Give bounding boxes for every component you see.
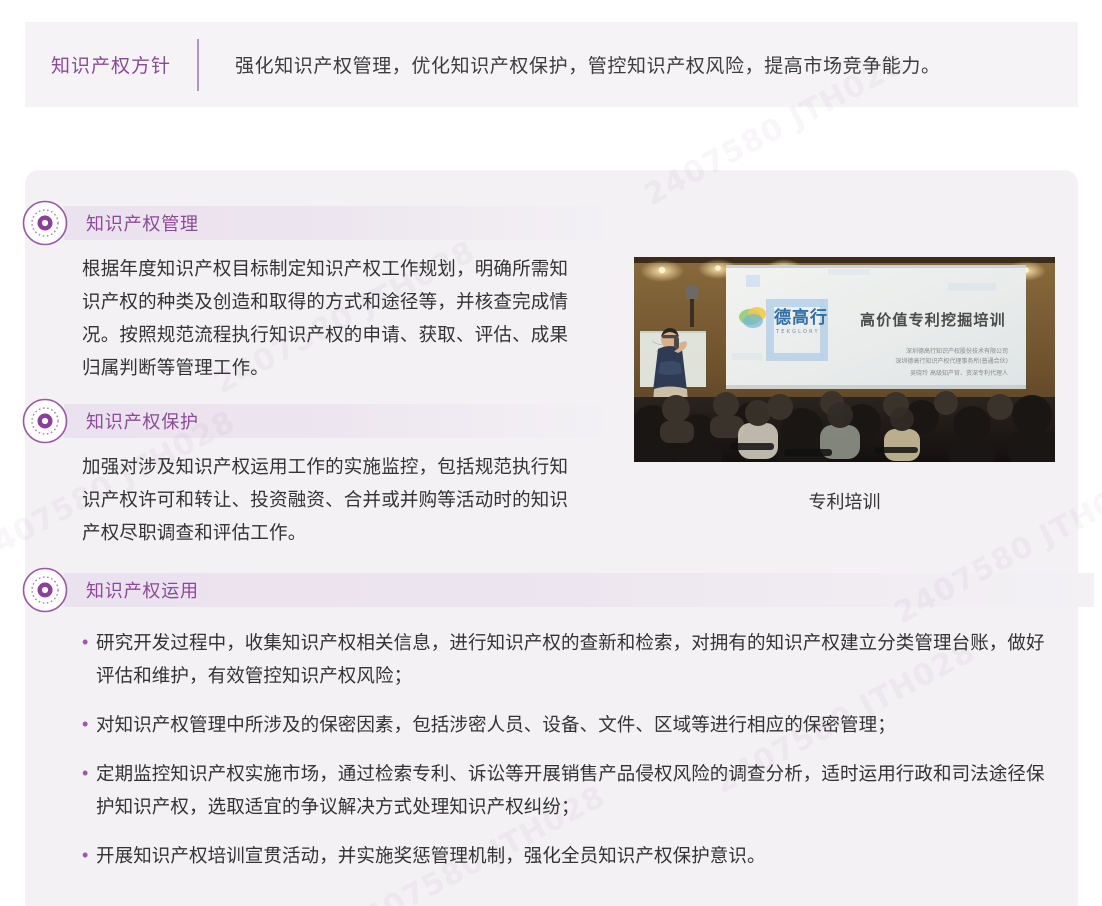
policy-banner: 知识产权方针 强化知识产权管理，优化知识产权保护，管控知识产权风险，提高市场竞争… — [25, 22, 1078, 107]
section-title-bar: 知识产权保护 — [64, 404, 614, 438]
svg-text:吴晓玲 高级知产官、资深专利代理人: 吴晓玲 高级知产官、资深专利代理人 — [910, 369, 1008, 377]
list-item: • 研究开发过程中，收集知识产权相关信息，进行知识产权的查新和检索，对拥有的知识… — [82, 626, 1062, 692]
svg-text:深圳德高行知识产权代理事务所(普通合伙): 深圳德高行知识产权代理事务所(普通合伙) — [895, 357, 1008, 365]
section-title-bar: 知识产权管理 — [64, 206, 614, 240]
section-header-protection: 知识产权保护 — [22, 398, 614, 444]
svg-text:高价值专利挖掘培训: 高价值专利挖掘培训 — [860, 311, 1006, 329]
bullet-dot-icon: • — [82, 757, 96, 823]
svg-text:德高行: 德高行 — [774, 307, 828, 328]
list-item: • 对知识产权管理中所涉及的保密因素，包括涉密人员、设备、文件、区域等进行相应的… — [82, 708, 1062, 741]
bullet-dot-icon: • — [82, 626, 96, 692]
section-header-utilization: 知识产权运用 — [22, 567, 1094, 613]
training-photo-image: 德高行 TEKGLORY 高价值专利挖掘培训 深圳德高行知识产权股份技术有限公司… — [634, 257, 1055, 462]
section-title-bar: 知识产权运用 — [64, 573, 1094, 607]
target-ring-icon — [22, 567, 68, 613]
policy-label: 知识产权方针 — [25, 51, 197, 78]
list-item-text: 开展知识产权培训宣贯活动，并实施奖惩管理机制，强化全员知识产权保护意识。 — [96, 839, 766, 872]
list-item: • 定期监控知识产权实施市场，通过检索专利、诉讼等开展销售产品侵权风险的调查分析… — [82, 757, 1062, 823]
utilization-bullet-list: • 研究开发过程中，收集知识产权相关信息，进行知识产权的查新和检索，对拥有的知识… — [82, 626, 1062, 888]
bullet-dot-icon: • — [82, 708, 96, 741]
section-body-management: 根据年度知识产权目标制定知识产权工作规划，明确所需知识产权的种类及创造和取得的方… — [82, 252, 582, 384]
target-ring-icon — [22, 398, 68, 444]
list-item-text: 对知识产权管理中所涉及的保密因素，包括涉密人员、设备、文件、区域等进行相应的保密… — [96, 708, 896, 741]
section-title: 知识产权运用 — [86, 577, 199, 603]
target-ring-icon — [22, 200, 68, 246]
bullet-dot-icon: • — [82, 839, 96, 872]
photo-caption: 专利培训 — [634, 488, 1055, 514]
list-item-text: 研究开发过程中，收集知识产权相关信息，进行知识产权的查新和检索，对拥有的知识产权… — [96, 626, 1062, 692]
policy-statement: 强化知识产权管理，优化知识产权保护，管控知识产权风险，提高市场竞争能力。 — [199, 51, 941, 78]
list-item-text: 定期监控知识产权实施市场，通过检索专利、诉讼等开展销售产品侵权风险的调查分析，适… — [96, 757, 1062, 823]
section-title: 知识产权保护 — [86, 408, 199, 434]
svg-text:TEKGLORY: TEKGLORY — [775, 329, 820, 335]
training-photo: 德高行 TEKGLORY 高价值专利挖掘培训 深圳德高行知识产权股份技术有限公司… — [634, 257, 1055, 462]
list-item: • 开展知识产权培训宣贯活动，并实施奖惩管理机制，强化全员知识产权保护意识。 — [82, 839, 1062, 872]
svg-text:深圳德高行知识产权股份技术有限公司: 深圳德高行知识产权股份技术有限公司 — [906, 347, 1008, 355]
section-title: 知识产权管理 — [86, 210, 199, 236]
section-header-management: 知识产权管理 — [22, 200, 614, 246]
section-body-protection: 加强对涉及知识产权运用工作的实施监控，包括规范执行知识产权许可和转让、投资融资、… — [82, 450, 582, 549]
